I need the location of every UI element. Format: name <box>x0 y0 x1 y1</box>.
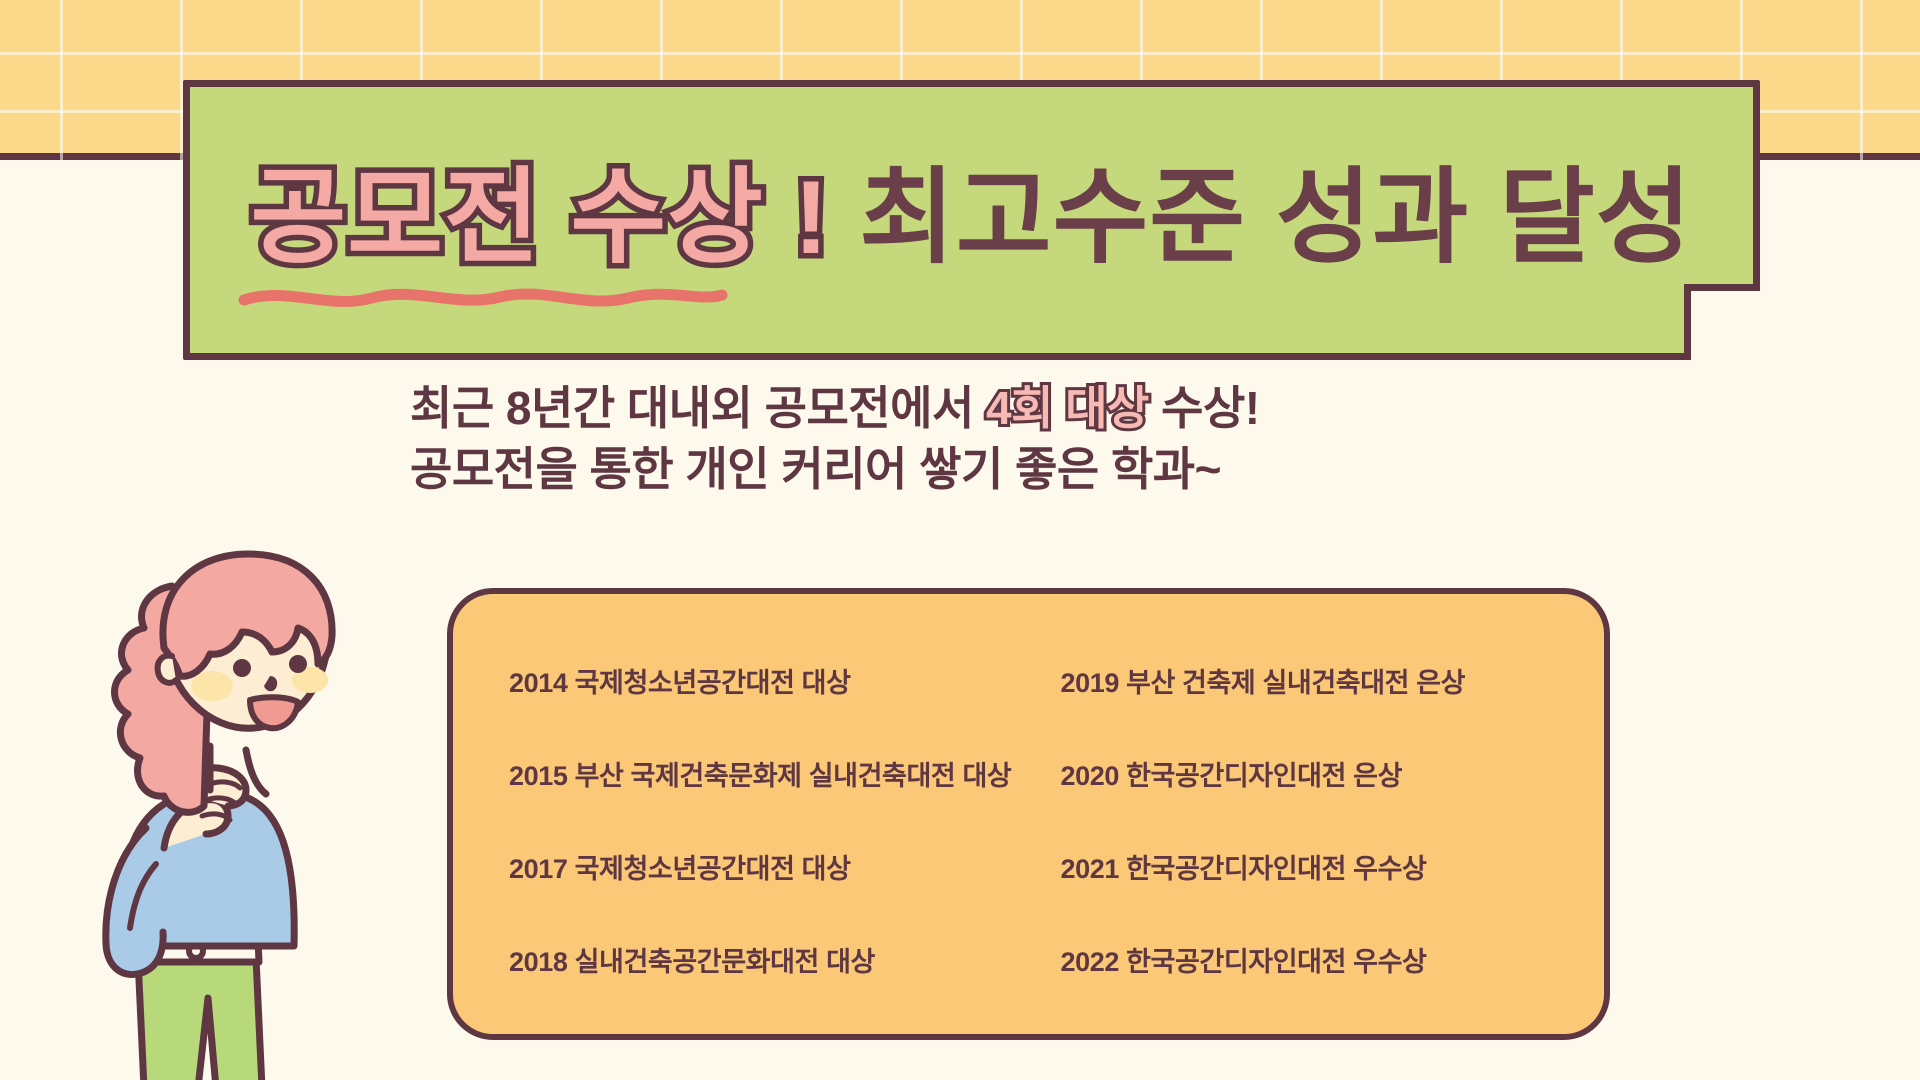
award-item: 2022 한국공간디자인대전 우수상 <box>1045 913 1565 1006</box>
squiggle-underline-icon <box>238 284 728 310</box>
award-item: 2018 실내건축공간문화대전 대상 <box>509 913 1029 1006</box>
thinking-girl-illustration <box>60 528 360 1080</box>
subtitle-block: 최근 8년간 대내외 공모전에서 4회 대상 수상! 공모전을 통한 개인 커리… <box>410 378 1530 499</box>
subtitle-line1-highlight: 4회 대상 <box>986 382 1149 434</box>
award-item: 2015 부산 국제건축문화제 실내건축대전 대상 <box>509 727 1029 820</box>
subtitle-line1-after: 수상! <box>1149 382 1260 434</box>
poster-canvas: 공모전 수상 ! 최고수준 성과 달성 최근 8년간 대내외 공모전에서 4회 … <box>0 0 1920 1080</box>
award-item: 2021 한국공간디자인대전 우수상 <box>1045 820 1565 913</box>
title-banner: 공모전 수상 ! 최고수준 성과 달성 <box>183 80 1760 360</box>
award-list-box: 2014 국제청소년공간대전 대상 2015 부산 국제건축문화제 실내건축대전… <box>447 588 1610 1040</box>
banner-title-rest: 최고수준 성과 달성 <box>859 160 1692 276</box>
banner-title-highlight: 공모전 수상 <box>251 160 764 276</box>
award-item: 2019 부산 건축제 실내건축대전 은상 <box>1045 634 1565 727</box>
subtitle-line1-before: 최근 8년간 대내외 공모전에서 <box>410 382 986 434</box>
award-item: 2017 국제청소년공간대전 대상 <box>509 820 1029 913</box>
banner-title: 공모전 수상 ! 최고수준 성과 달성 <box>190 166 1753 270</box>
subtitle-line-2: 공모전을 통한 개인 커리어 쌓기 좋은 학과~ <box>410 439 1530 500</box>
award-item: 2020 한국공간디자인대전 은상 <box>1045 727 1565 820</box>
award-item: 2014 국제청소년공간대전 대상 <box>509 634 1029 727</box>
subtitle-line-1: 최근 8년간 대내외 공모전에서 4회 대상 수상! <box>410 378 1530 439</box>
award-grid: 2014 국제청소년공간대전 대상 2015 부산 국제건축문화제 실내건축대전… <box>509 634 1564 1006</box>
banner-fold-edge <box>1684 284 1760 360</box>
banner-title-exclaim: ! <box>764 160 859 276</box>
